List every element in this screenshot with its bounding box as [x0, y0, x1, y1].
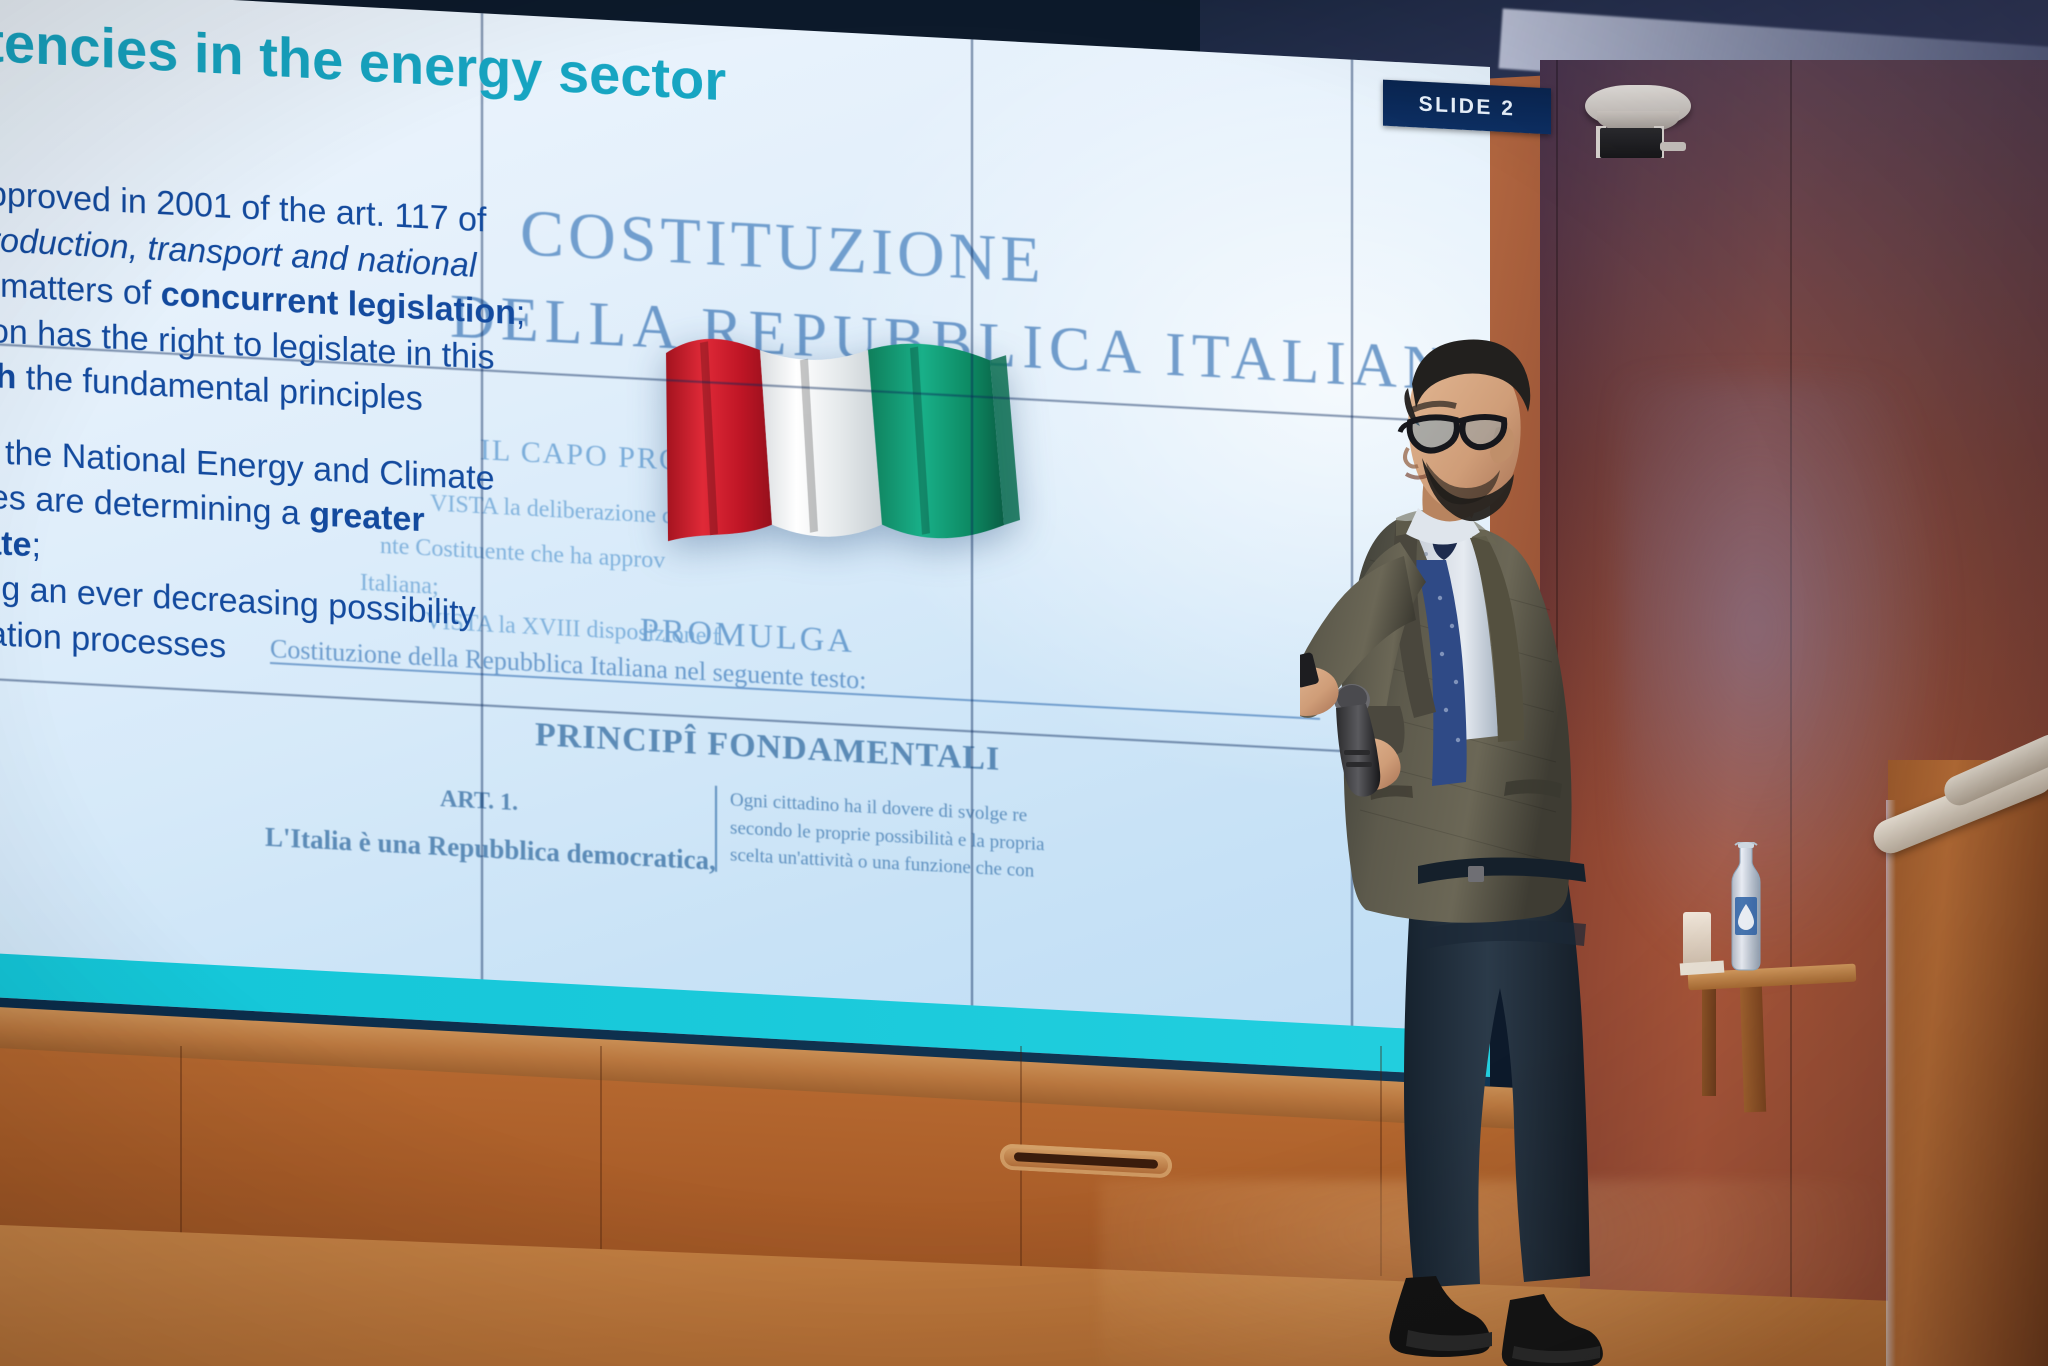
water-bottle [1727, 842, 1765, 972]
podium-edge-light [1886, 800, 1896, 1366]
slide-surface: COSTITUZIONE DELLA REPUBBLICA ITALIANA I… [0, 0, 1490, 1086]
constitution-art-text: L'Italia è una Repubblica democratica, [265, 822, 716, 877]
presenter [1300, 310, 1720, 1366]
projector-icon [1600, 128, 1662, 158]
screenshot-root: COSTITUZIONE DELLA REPUBBLICA ITALIANA I… [0, 0, 2048, 1366]
ceiling-speaker-icon [1585, 85, 1691, 127]
projector-lens-icon [1660, 142, 1686, 151]
constitution-principi: PRINCIPÎ FONDAMENTALI [535, 716, 1000, 779]
video-wall[interactable]: COSTITUZIONE DELLA REPUBBLICA ITALIANA I… [0, 0, 1490, 1086]
podium [1888, 760, 2048, 1366]
slide-title: petencies in the energy sector [0, 5, 726, 113]
slide-number-badge: SLIDE 2 [1383, 80, 1551, 135]
slide-body: rm approved in 2001 of the art. 117 of n… [0, 168, 920, 707]
slide-number-label: SLIDE 2 [1419, 92, 1516, 121]
belt-buckle [1468, 866, 1484, 882]
video-wall-bezel [970, 39, 974, 1086]
wood-panel-seam [600, 1046, 602, 1276]
constitution-column-text: Ogni cittadino ha il dovere di svolge re… [730, 786, 1090, 888]
presenter-figure [1300, 310, 1720, 1366]
constitution-column-rule [715, 786, 717, 872]
table-leg [1740, 984, 1766, 1113]
